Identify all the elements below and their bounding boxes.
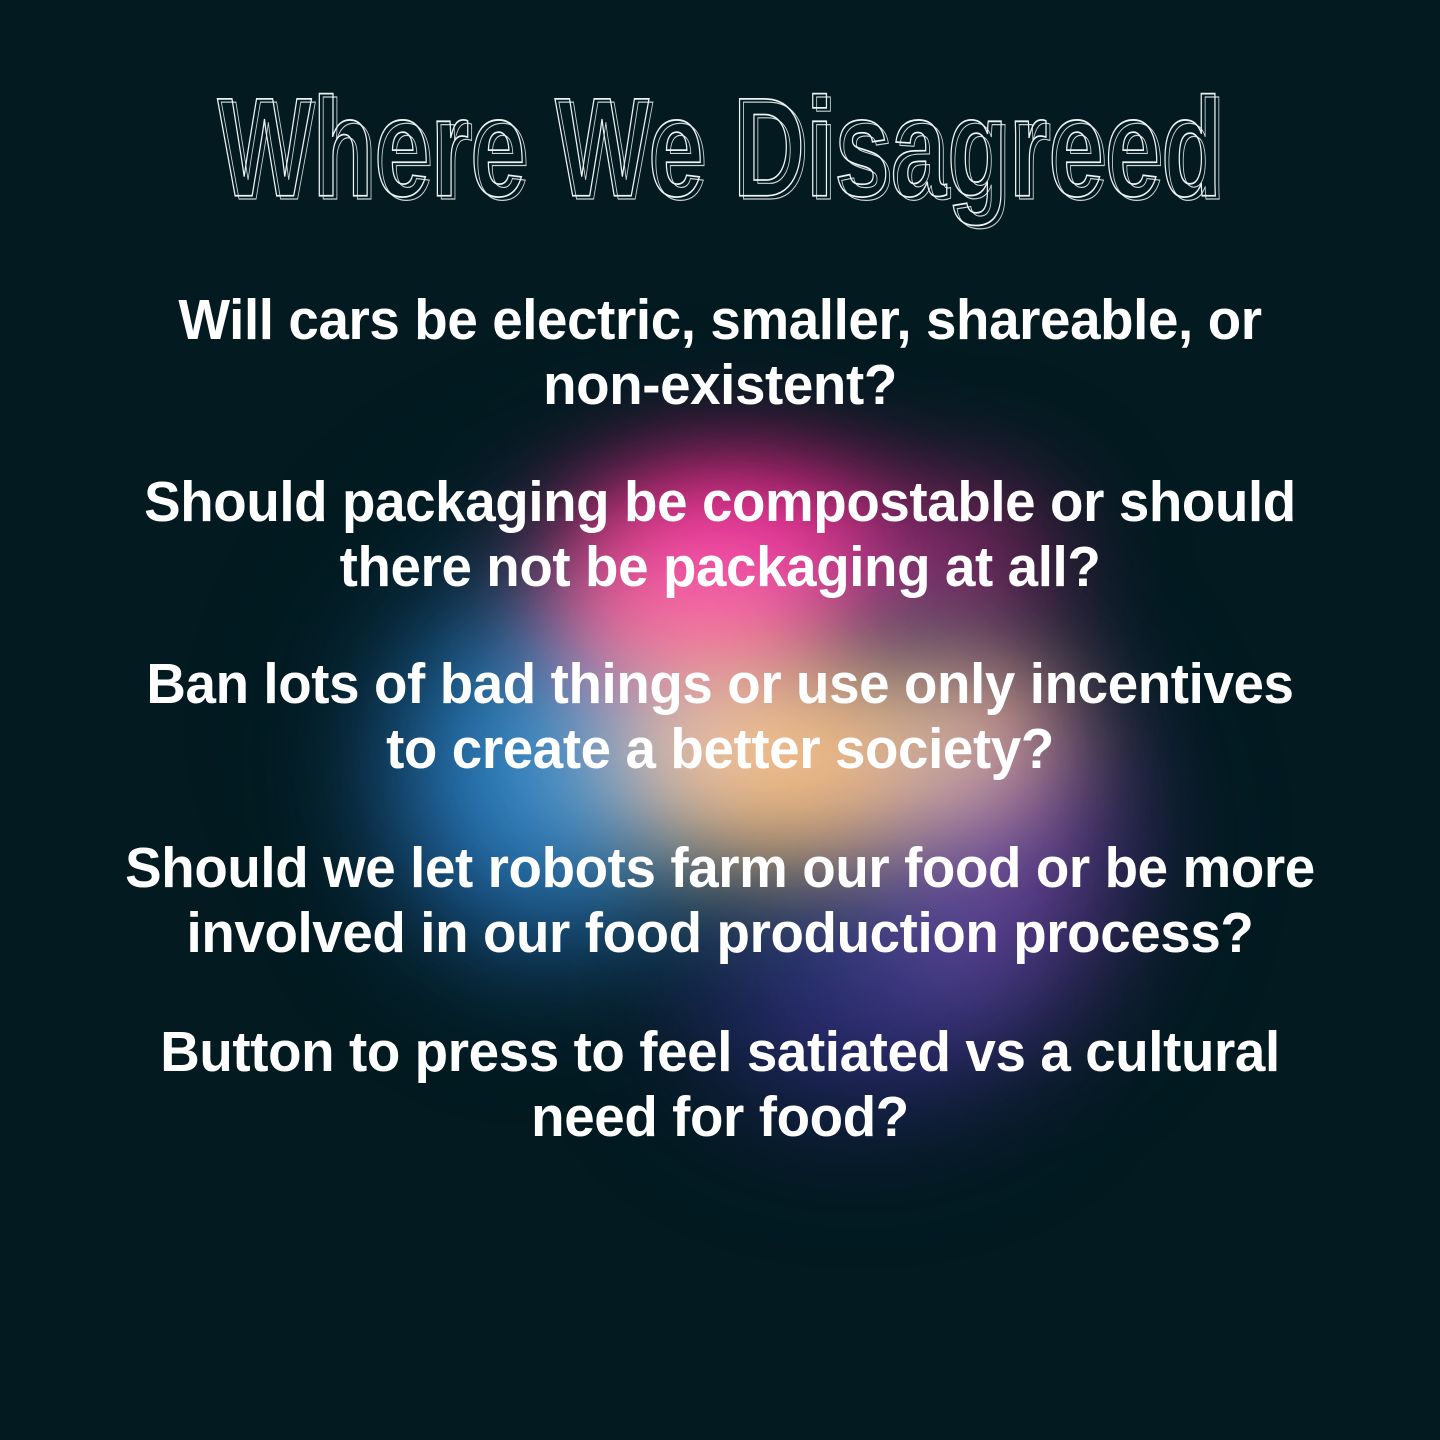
question-item: Should packaging be compostable or shoul… bbox=[115, 470, 1325, 600]
questions-list: Will cars be electric, smaller, shareabl… bbox=[90, 288, 1350, 1150]
question-item: Button to press to feel satiated vs a cu… bbox=[115, 1020, 1325, 1150]
slide-canvas: Where We Disagreed Where We Disagreed Wi… bbox=[0, 0, 1440, 1440]
question-item: Should we let robots farm our food or be… bbox=[115, 836, 1325, 966]
slide-content: Where We Disagreed Where We Disagreed Wi… bbox=[0, 0, 1440, 1440]
question-item: Will cars be electric, smaller, shareabl… bbox=[115, 288, 1325, 418]
question-item: Ban lots of bad things or use only incen… bbox=[115, 652, 1325, 782]
page-title-outline-echo: Where We Disagreed bbox=[162, 81, 1285, 222]
